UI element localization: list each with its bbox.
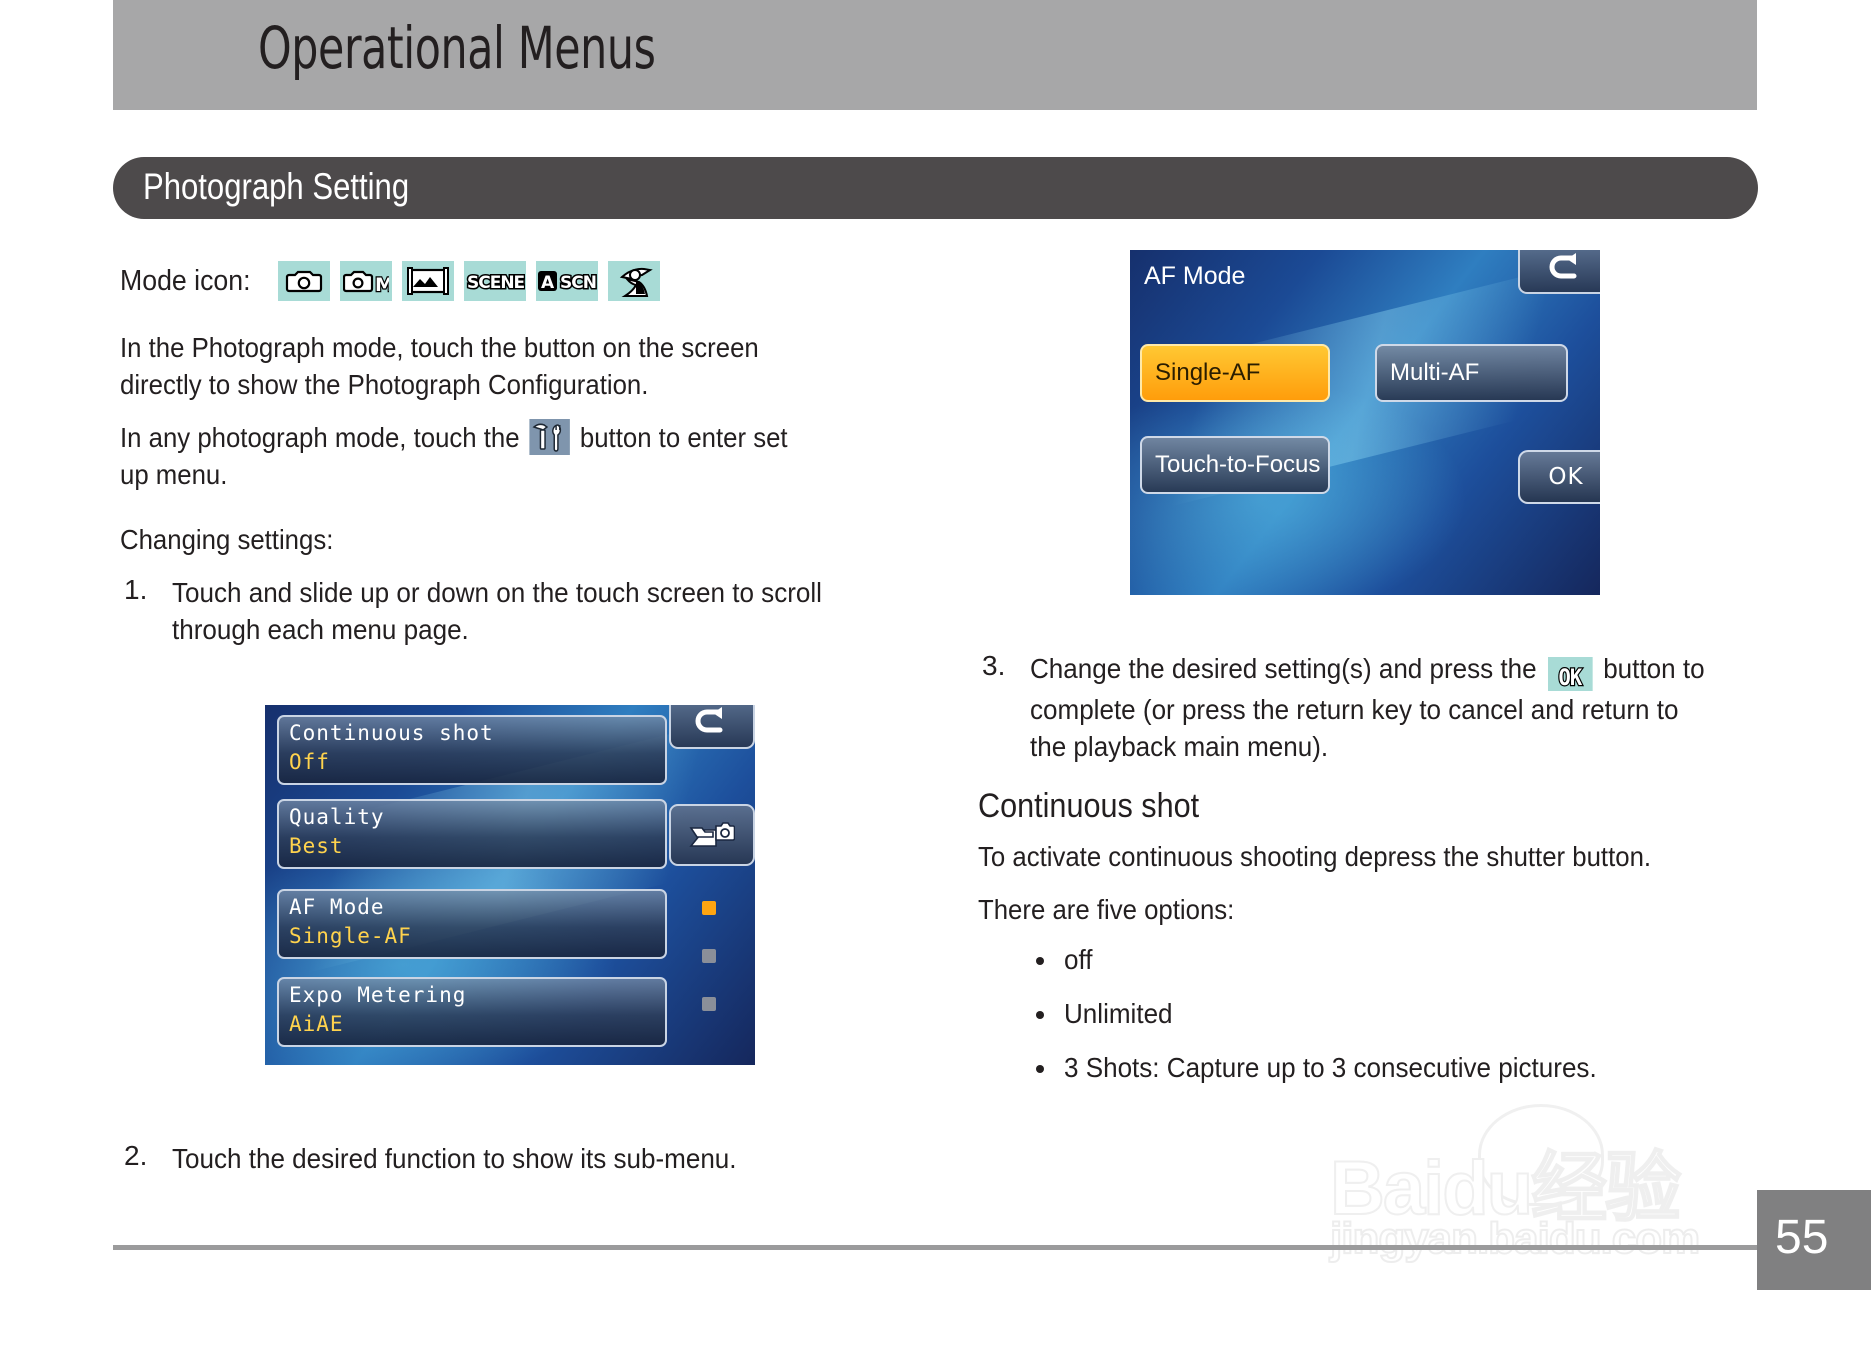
menu-row-continuous-shot[interactable]: Continuous shot Off — [277, 715, 667, 785]
step-2-wrapper: 2. Touch the desired function to show it… — [120, 1140, 880, 1187]
watermark-line-2: jingyan.baidu.com — [1330, 1214, 1699, 1264]
camera-auto-icon — [278, 261, 330, 301]
bullet-text: 3 Shots: Capture up to 3 consecutive pic… — [1064, 1052, 1597, 1084]
step-1: 1. Touch and slide up or down on the tou… — [120, 574, 880, 648]
left-column: Mode icon: M SCENE — [120, 255, 880, 658]
step-2-text: Touch the desired function to show its s… — [172, 1140, 830, 1177]
paragraph-2-before: In any photograph mode, touch the — [120, 422, 520, 453]
return-arrow-icon[interactable] — [1518, 250, 1600, 294]
bullet-dot-icon — [1036, 1065, 1044, 1073]
continuous-shot-heading: Continuous shot — [978, 787, 1689, 826]
svg-text:A: A — [541, 273, 555, 293]
menu-row-quality[interactable]: Quality Best — [277, 799, 667, 869]
page-dot-3[interactable] — [702, 997, 716, 1011]
bullet-dot-icon — [1036, 1011, 1044, 1019]
bullet-text: off — [1064, 944, 1092, 976]
menu-row-af-mode[interactable]: AF Mode Single-AF — [277, 889, 667, 959]
baidu-paw-icon — [1478, 1104, 1604, 1206]
page-number: 55 — [1775, 1210, 1828, 1265]
af-mode-screenshot: AF Mode Single-AF Multi-AF Touch-to-Focu… — [1130, 250, 1600, 595]
step-3: 3. Change the desired setting(s) and pre… — [978, 650, 1768, 765]
page-dot-1[interactable] — [702, 901, 716, 915]
svg-text:M: M — [375, 274, 389, 295]
menu-row-value: Off — [289, 750, 330, 774]
continuous-shot-para-1: To activate continuous shooting depress … — [978, 838, 1705, 875]
ok-button[interactable]: OK — [1518, 450, 1600, 504]
photo-mode-icon[interactable] — [669, 804, 755, 866]
page-dot-2[interactable] — [702, 949, 716, 963]
af-option-multi-af[interactable]: Multi-AF — [1375, 344, 1568, 402]
menu-row-value: Single-AF — [289, 924, 412, 948]
list-item: off — [1030, 944, 1768, 976]
menu-row-label: Continuous shot — [289, 721, 494, 745]
return-arrow-icon[interactable] — [669, 705, 755, 749]
continuous-shot-para-2: There are five options: — [978, 891, 1705, 928]
list-item: 3 Shots: Capture up to 3 consecutive pic… — [1030, 1052, 1768, 1084]
page-number-box: 55 — [1757, 1190, 1871, 1290]
menu-row-label: Quality — [289, 805, 385, 829]
menu-row-value: AiAE — [289, 1012, 344, 1036]
af-option-label: Single-AF — [1155, 359, 1260, 387]
af-option-label: Touch-to-Focus — [1155, 451, 1320, 479]
page-header-bar: Operational Menus — [113, 0, 1757, 110]
step-2: 2. Touch the desired function to show it… — [120, 1140, 880, 1177]
menu-row-label: AF Mode — [289, 895, 385, 919]
setup-tools-icon — [530, 419, 570, 455]
footer-divider — [113, 1245, 1758, 1250]
ok-inline-icon: OK — [1548, 657, 1593, 691]
svg-text:SCN: SCN — [560, 273, 596, 293]
right-column: 3. Change the desired setting(s) and pre… — [978, 650, 1768, 1106]
intro-paragraph-1: In the Photograph mode, touch the button… — [120, 329, 819, 403]
menu-row-expo-metering[interactable]: Expo Metering AiAE — [277, 977, 667, 1047]
camera-manual-icon: M — [340, 261, 392, 301]
mode-icon-row: Mode icon: M SCENE — [120, 255, 880, 307]
intro-paragraph-2: In any photograph mode, touch the button… — [120, 419, 819, 493]
af-mode-title: AF Mode — [1144, 262, 1245, 291]
step-1-number: 1. — [124, 574, 147, 606]
changing-settings-label: Changing settings: — [120, 521, 819, 558]
bullet-dot-icon — [1036, 957, 1044, 965]
list-item: Unlimited — [1030, 998, 1768, 1030]
step-2-number: 2. — [124, 1140, 147, 1172]
auto-scene-icon: A SCN — [536, 261, 598, 301]
svg-text:SCENE: SCENE — [467, 273, 525, 293]
watermark-line-1: Baidu经验 — [1330, 1126, 1679, 1236]
step-1-text: Touch and slide up or down on the touch … — [172, 574, 830, 648]
menu-row-value: Best — [289, 834, 344, 858]
af-option-touch-to-focus[interactable]: Touch-to-Focus — [1140, 436, 1330, 494]
portrait-icon — [608, 261, 660, 301]
bullet-text: Unlimited — [1064, 998, 1173, 1030]
scene-icon: SCENE — [464, 261, 526, 301]
camera-menu-screenshot: Continuous shot Off Quality Best AF Mode… — [265, 705, 755, 1065]
af-option-label: Multi-AF — [1390, 359, 1479, 387]
page-title: Operational Menus — [258, 14, 655, 82]
menu-row-label: Expo Metering — [289, 983, 466, 1007]
panorama-icon — [402, 261, 454, 301]
step-3-number: 3. — [982, 650, 1005, 682]
ok-inline-label: OK — [1559, 666, 1582, 691]
step-3-before: Change the desired setting(s) and press … — [1030, 653, 1537, 684]
section-header-pill: Photograph Setting — [113, 157, 1758, 219]
section-title: Photograph Setting — [143, 166, 409, 208]
af-option-single-af[interactable]: Single-AF — [1140, 344, 1330, 402]
step-3-text: Change the desired setting(s) and press … — [1030, 650, 1716, 765]
continuous-shot-options: off Unlimited 3 Shots: Capture up to 3 c… — [1030, 944, 1768, 1084]
mode-icon-label: Mode icon: — [120, 265, 251, 298]
baidu-watermark: Baidu经验 jingyan.baidu.com — [1330, 1126, 1760, 1306]
